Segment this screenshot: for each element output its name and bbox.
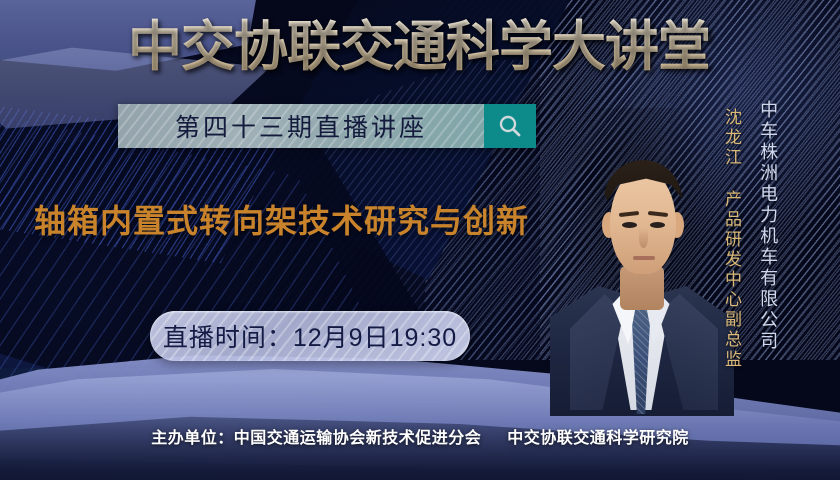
footer-organizer-primary: 主办单位：中国交通运输协会新技术促进分会: [151, 430, 481, 447]
search-icon: [497, 113, 523, 139]
eye-left: [622, 222, 637, 228]
mouth: [633, 256, 655, 260]
page-title: 中交协联交通科学大讲堂: [128, 16, 708, 78]
footer-organizer-secondary: 中交协联交通科学研究院: [507, 430, 689, 447]
nose: [639, 228, 648, 248]
speaker-company: 中车株洲电力机车有限公司: [758, 100, 777, 352]
eye-right: [650, 222, 665, 228]
search-button[interactable]: [484, 104, 536, 148]
webinar-poster: 中交协联交通科学大讲堂 中交协联交通科学大讲堂 第四十三期直播讲座 轴箱内置式转…: [0, 0, 840, 480]
subtitle-bar-body: 第四十三期直播讲座: [118, 104, 484, 148]
subtitle-bar: 第四十三期直播讲座: [118, 104, 536, 148]
speaker-name-title: 沈龙江 产品研发中心副总监: [722, 108, 740, 370]
subtitle-label: 第四十三期直播讲座: [175, 108, 427, 144]
speaker-portrait: [556, 108, 724, 408]
broadcast-time-pill: 直播时间：12月9日19:30: [150, 311, 470, 361]
footer-organizers: 主办单位：中国交通运输协会新技术促进分会中交协联交通科学研究院: [0, 424, 840, 448]
broadcast-time-label: 直播时间：12月9日19:30: [163, 318, 457, 354]
lecture-topic: 轴箱内置式转向架技术研究与创新: [34, 196, 594, 242]
